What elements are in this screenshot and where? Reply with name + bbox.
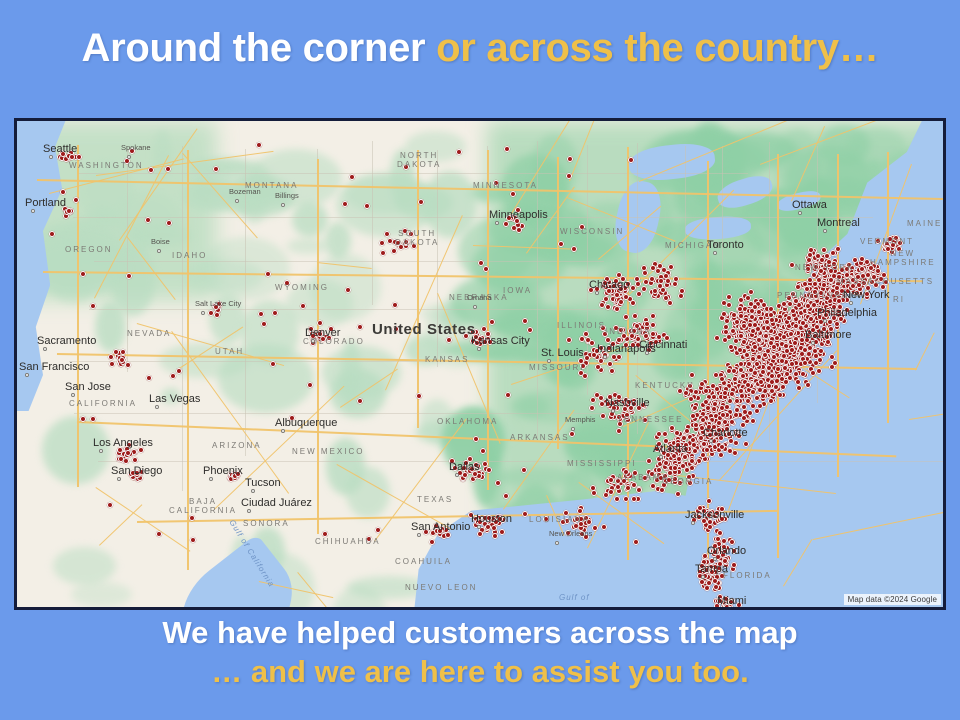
- customer-marker[interactable]: [711, 406, 717, 412]
- customer-marker[interactable]: [590, 397, 596, 403]
- customer-marker[interactable]: [810, 370, 816, 376]
- customer-marker[interactable]: [563, 510, 569, 516]
- customer-marker[interactable]: [265, 271, 271, 277]
- customer-marker[interactable]: [752, 344, 758, 350]
- customer-marker[interactable]: [814, 324, 820, 330]
- customer-marker[interactable]: [90, 416, 96, 422]
- customer-marker[interactable]: [618, 286, 624, 292]
- customer-marker[interactable]: [700, 417, 706, 423]
- footer-line-1: We have helped customers across the map: [0, 614, 960, 653]
- map-city-dot: [31, 209, 35, 213]
- customer-marker[interactable]: [616, 428, 622, 434]
- customer-marker[interactable]: [616, 414, 622, 420]
- customer-marker[interactable]: [499, 529, 505, 535]
- customer-marker[interactable]: [641, 286, 647, 292]
- customer-marker[interactable]: [598, 358, 604, 364]
- customer-marker[interactable]: [256, 142, 262, 148]
- map-city-dot: [798, 211, 802, 215]
- customer-marker[interactable]: [781, 334, 787, 340]
- customer-marker[interactable]: [823, 312, 829, 318]
- customer-marker[interactable]: [788, 331, 794, 337]
- customer-marker[interactable]: [705, 405, 711, 411]
- customer-marker[interactable]: [485, 331, 491, 337]
- map-city-dot: [99, 449, 103, 453]
- customer-marker[interactable]: [800, 371, 806, 377]
- customer-marker[interactable]: [731, 548, 737, 554]
- customer-marker[interactable]: [213, 304, 219, 310]
- page-title: Around the corner or across the country…: [0, 26, 960, 71]
- customer-marker[interactable]: [808, 316, 814, 322]
- customer-marker[interactable]: [813, 264, 819, 270]
- customer-marker[interactable]: [689, 465, 695, 471]
- customer-marker[interactable]: [569, 431, 575, 437]
- customer-marker[interactable]: [626, 399, 632, 405]
- customer-marker[interactable]: [748, 367, 754, 373]
- customer-marker[interactable]: [558, 241, 564, 247]
- page-title-gold: or across the country…: [436, 26, 878, 70]
- customer-marker[interactable]: [829, 354, 835, 360]
- customer-marker[interactable]: [470, 329, 476, 335]
- customer-marker[interactable]: [729, 539, 735, 545]
- customer-marker[interactable]: [831, 304, 837, 310]
- customer-marker[interactable]: [804, 337, 810, 343]
- customer-marker[interactable]: [486, 515, 492, 521]
- customer-marker[interactable]: [697, 505, 703, 511]
- customer-marker[interactable]: [66, 208, 72, 214]
- customer-marker[interactable]: [631, 482, 637, 488]
- customer-marker[interactable]: [375, 527, 381, 533]
- customer-marker[interactable]: [616, 272, 622, 278]
- customer-marker[interactable]: [642, 417, 648, 423]
- customer-marker[interactable]: [890, 242, 896, 248]
- customer-marker[interactable]: [795, 379, 801, 385]
- customer-marker[interactable]: [579, 224, 585, 230]
- customer-marker[interactable]: [487, 339, 493, 345]
- map-city-dot: [659, 455, 663, 459]
- customer-marker[interactable]: [726, 606, 732, 610]
- customer-marker[interactable]: [595, 364, 601, 370]
- customer-marker[interactable]: [737, 347, 743, 353]
- footer-line-2: … and we are here to assist you too.: [0, 653, 960, 692]
- customer-marker[interactable]: [757, 403, 763, 409]
- customer-marker[interactable]: [632, 470, 638, 476]
- map-canvas[interactable]: WASHINGTONOREGONIDAHOMONTANAWYOMINGNORTH…: [17, 121, 943, 607]
- customer-marker[interactable]: [437, 528, 443, 534]
- map-city-dot: [603, 355, 607, 359]
- customer-marker[interactable]: [719, 405, 725, 411]
- customer-marker[interactable]: [659, 487, 665, 493]
- customer-marker[interactable]: [636, 487, 642, 493]
- customer-marker[interactable]: [527, 327, 533, 333]
- customer-marker[interactable]: [777, 392, 783, 398]
- customer-map[interactable]: WASHINGTONOREGONIDAHOMONTANAWYOMINGNORTH…: [14, 118, 946, 610]
- customer-marker[interactable]: [734, 398, 740, 404]
- customer-marker[interactable]: [869, 279, 875, 285]
- customer-marker[interactable]: [589, 340, 595, 346]
- customer-marker[interactable]: [724, 604, 730, 610]
- customer-marker[interactable]: [635, 342, 641, 348]
- customer-marker[interactable]: [623, 294, 629, 300]
- map-attribution: Map data ©2024 Google: [844, 594, 941, 605]
- customer-marker[interactable]: [76, 154, 82, 160]
- customer-marker[interactable]: [883, 279, 889, 285]
- map-city-dot: [201, 311, 205, 315]
- customer-marker[interactable]: [719, 516, 725, 522]
- map-city-dot: [281, 429, 285, 433]
- customer-marker[interactable]: [692, 448, 698, 454]
- customer-marker[interactable]: [722, 337, 728, 343]
- customer-marker[interactable]: [591, 352, 597, 358]
- customer-marker[interactable]: [715, 536, 721, 542]
- customer-marker[interactable]: [699, 381, 705, 387]
- customer-marker[interactable]: [473, 436, 479, 442]
- customer-marker[interactable]: [679, 288, 685, 294]
- customer-marker[interactable]: [395, 240, 401, 246]
- customer-marker[interactable]: [683, 390, 689, 396]
- customer-marker[interactable]: [736, 602, 742, 608]
- customer-marker[interactable]: [663, 438, 669, 444]
- customer-marker[interactable]: [743, 441, 749, 447]
- footer-text: We have helped customers across the map …: [0, 614, 960, 692]
- map-city-dot: [495, 221, 499, 225]
- customer-marker[interactable]: [675, 491, 681, 497]
- customer-marker[interactable]: [614, 292, 620, 298]
- customer-marker[interactable]: [632, 313, 638, 319]
- page-title-white: Around the corner: [81, 26, 436, 70]
- customer-marker[interactable]: [342, 201, 348, 207]
- customer-marker[interactable]: [738, 297, 744, 303]
- customer-marker[interactable]: [577, 508, 583, 514]
- map-city-dot: [311, 339, 315, 343]
- customer-marker[interactable]: [609, 368, 615, 374]
- customer-marker[interactable]: [727, 606, 733, 610]
- customer-marker[interactable]: [752, 322, 758, 328]
- customer-marker[interactable]: [156, 531, 162, 537]
- customer-marker[interactable]: [603, 296, 609, 302]
- map-city-dot: [281, 203, 285, 207]
- customer-marker[interactable]: [706, 498, 712, 504]
- customer-marker[interactable]: [701, 518, 707, 524]
- customer-marker[interactable]: [713, 584, 719, 590]
- customer-marker[interactable]: [717, 561, 723, 567]
- customer-marker[interactable]: [678, 293, 684, 299]
- customer-marker[interactable]: [495, 480, 501, 486]
- customer-marker[interactable]: [598, 395, 604, 401]
- customer-marker[interactable]: [663, 460, 669, 466]
- map-city-dot: [709, 439, 713, 443]
- customer-marker[interactable]: [786, 315, 792, 321]
- customer-marker[interactable]: [642, 475, 648, 481]
- customer-marker[interactable]: [628, 157, 634, 163]
- customer-marker[interactable]: [138, 447, 144, 453]
- customer-marker[interactable]: [817, 357, 823, 363]
- customer-marker[interactable]: [807, 252, 813, 258]
- customer-marker[interactable]: [763, 333, 769, 339]
- map-city-dot: [455, 473, 459, 477]
- customer-marker[interactable]: [818, 268, 824, 274]
- customer-marker[interactable]: [768, 398, 774, 404]
- customer-marker[interactable]: [622, 406, 628, 412]
- customer-marker[interactable]: [672, 281, 678, 287]
- customer-marker[interactable]: [668, 264, 674, 270]
- customer-marker[interactable]: [503, 493, 509, 499]
- customer-marker[interactable]: [80, 416, 86, 422]
- customer-marker[interactable]: [474, 340, 480, 346]
- customer-marker[interactable]: [838, 316, 844, 322]
- customer-marker[interactable]: [830, 250, 836, 256]
- customer-marker[interactable]: [850, 283, 856, 289]
- customer-marker[interactable]: [393, 326, 399, 332]
- customer-marker[interactable]: [671, 453, 677, 459]
- customer-marker[interactable]: [392, 302, 398, 308]
- customer-marker[interactable]: [717, 598, 723, 604]
- map-city-label: Monterrey: [389, 607, 423, 610]
- customer-marker[interactable]: [624, 412, 630, 418]
- map-city-dot: [49, 155, 53, 159]
- customer-marker[interactable]: [713, 372, 719, 378]
- customer-marker[interactable]: [125, 450, 131, 456]
- customer-marker[interactable]: [449, 458, 455, 464]
- customer-marker[interactable]: [521, 467, 527, 473]
- customer-marker[interactable]: [817, 307, 823, 313]
- customer-marker[interactable]: [477, 519, 483, 525]
- customer-marker[interactable]: [366, 536, 372, 542]
- map-city-dot: [701, 575, 705, 579]
- customer-marker[interactable]: [844, 307, 850, 313]
- customer-marker[interactable]: [416, 393, 422, 399]
- map-city-dot: [723, 607, 727, 610]
- customer-marker[interactable]: [714, 386, 720, 392]
- customer-marker[interactable]: [893, 235, 899, 241]
- customer-marker[interactable]: [503, 221, 509, 227]
- customer-marker[interactable]: [623, 496, 629, 502]
- customer-marker[interactable]: [80, 271, 86, 277]
- customer-marker[interactable]: [712, 578, 718, 584]
- customer-marker[interactable]: [719, 573, 725, 579]
- customer-marker[interactable]: [170, 373, 176, 379]
- customer-marker[interactable]: [828, 326, 834, 332]
- map-city-dot: [823, 229, 827, 233]
- map-city-dot: [811, 341, 815, 345]
- map-city-dot: [117, 477, 121, 481]
- map-city-dot: [547, 359, 551, 363]
- customer-marker[interactable]: [603, 492, 609, 498]
- customer-marker[interactable]: [796, 385, 802, 391]
- customer-marker[interactable]: [837, 304, 843, 310]
- map-city-dot: [473, 305, 477, 309]
- customer-marker[interactable]: [864, 291, 870, 297]
- customer-marker[interactable]: [650, 483, 656, 489]
- map-city-dot: [477, 347, 481, 351]
- customer-marker[interactable]: [700, 452, 706, 458]
- map-city-dot: [571, 427, 575, 431]
- customer-marker[interactable]: [690, 437, 696, 443]
- map-city-dot: [477, 525, 481, 529]
- customer-marker[interactable]: [850, 277, 856, 283]
- customer-marker[interactable]: [322, 531, 328, 537]
- customer-marker[interactable]: [571, 246, 577, 252]
- customer-marker[interactable]: [750, 328, 756, 334]
- customer-marker[interactable]: [669, 425, 675, 431]
- customer-marker[interactable]: [812, 348, 818, 354]
- customer-marker[interactable]: [109, 361, 115, 367]
- customer-marker[interactable]: [289, 415, 295, 421]
- customer-marker[interactable]: [583, 515, 589, 521]
- customer-marker[interactable]: [189, 515, 195, 521]
- customer-marker[interactable]: [618, 299, 624, 305]
- customer-marker[interactable]: [480, 448, 486, 454]
- customer-marker[interactable]: [741, 404, 747, 410]
- customer-marker[interactable]: [721, 544, 727, 550]
- customer-marker[interactable]: [515, 207, 521, 213]
- customer-marker[interactable]: [712, 549, 718, 555]
- customer-marker[interactable]: [463, 333, 469, 339]
- customer-marker[interactable]: [615, 484, 621, 490]
- customer-marker[interactable]: [317, 320, 323, 326]
- customer-marker[interactable]: [664, 335, 670, 341]
- customer-marker[interactable]: [601, 524, 607, 530]
- customer-marker[interactable]: [391, 248, 397, 254]
- customer-marker[interactable]: [270, 361, 276, 367]
- map-city-dot: [209, 477, 213, 481]
- customer-marker[interactable]: [760, 369, 766, 375]
- customer-marker[interactable]: [485, 524, 491, 530]
- customer-marker[interactable]: [649, 276, 655, 282]
- customer-marker[interactable]: [675, 442, 681, 448]
- customer-marker[interactable]: [875, 268, 881, 274]
- customer-marker[interactable]: [379, 240, 385, 246]
- map-city-dot: [251, 489, 255, 493]
- customer-marker[interactable]: [674, 430, 680, 436]
- map-city-dot: [417, 533, 421, 537]
- customer-marker[interactable]: [567, 156, 573, 162]
- customer-marker[interactable]: [605, 304, 611, 310]
- customer-marker[interactable]: [804, 286, 810, 292]
- customer-marker[interactable]: [836, 274, 842, 280]
- customer-marker[interactable]: [856, 282, 862, 288]
- customer-marker[interactable]: [591, 490, 597, 496]
- customer-marker[interactable]: [745, 295, 751, 301]
- customer-marker[interactable]: [825, 339, 831, 345]
- map-city-dot: [235, 199, 239, 203]
- customer-marker[interactable]: [165, 166, 171, 172]
- map-city-dot: [691, 521, 695, 525]
- customer-marker[interactable]: [483, 266, 489, 272]
- customer-marker[interactable]: [818, 290, 824, 296]
- customer-marker[interactable]: [689, 372, 695, 378]
- customer-marker[interactable]: [782, 365, 788, 371]
- customer-marker[interactable]: [213, 166, 219, 172]
- customer-marker[interactable]: [699, 579, 705, 585]
- customer-marker[interactable]: [754, 361, 760, 367]
- customer-marker[interactable]: [272, 310, 278, 316]
- customer-marker[interactable]: [779, 358, 785, 364]
- customer-marker[interactable]: [709, 569, 715, 575]
- map-city-dot: [555, 541, 559, 545]
- map-city-dot: [247, 509, 251, 513]
- customer-marker[interactable]: [728, 438, 734, 444]
- customer-marker[interactable]: [787, 301, 793, 307]
- customer-marker[interactable]: [684, 467, 690, 473]
- customer-marker[interactable]: [357, 324, 363, 330]
- customer-marker[interactable]: [384, 231, 390, 237]
- customer-marker[interactable]: [630, 300, 636, 306]
- map-city-dot: [595, 291, 599, 295]
- customer-marker[interactable]: [719, 376, 725, 382]
- customer-marker[interactable]: [579, 336, 585, 342]
- map-city-dot: [713, 251, 717, 255]
- customer-marker[interactable]: [491, 525, 497, 531]
- customer-marker[interactable]: [653, 339, 659, 345]
- customer-marker[interactable]: [741, 415, 747, 421]
- customer-marker[interactable]: [646, 458, 652, 464]
- customer-marker[interactable]: [726, 368, 732, 374]
- customer-marker[interactable]: [317, 331, 323, 337]
- customer-marker[interactable]: [720, 412, 726, 418]
- map-city-dot: [645, 351, 649, 355]
- customer-marker[interactable]: [472, 471, 478, 477]
- customer-marker[interactable]: [714, 335, 720, 341]
- map-city-dot: [611, 409, 615, 413]
- customer-marker[interactable]: [606, 288, 612, 294]
- customer-marker[interactable]: [467, 456, 473, 462]
- customer-marker[interactable]: [792, 340, 798, 346]
- map-city-dot: [43, 347, 47, 351]
- customer-marker[interactable]: [623, 469, 629, 475]
- map-city-dot: [849, 301, 853, 305]
- customer-marker[interactable]: [510, 191, 516, 197]
- map-city-dot: [713, 557, 717, 561]
- customer-marker[interactable]: [607, 361, 613, 367]
- customer-marker[interactable]: [768, 306, 774, 312]
- map-city-dot: [25, 373, 29, 377]
- customer-marker[interactable]: [113, 349, 119, 355]
- customer-marker[interactable]: [714, 603, 720, 609]
- customer-marker[interactable]: [768, 312, 774, 318]
- customer-marker[interactable]: [737, 306, 743, 312]
- customer-marker[interactable]: [166, 220, 172, 226]
- customer-marker[interactable]: [690, 413, 696, 419]
- customer-marker[interactable]: [493, 519, 499, 525]
- customer-marker[interactable]: [445, 532, 451, 538]
- map-city-dot: [155, 405, 159, 409]
- customer-marker[interactable]: [728, 344, 734, 350]
- customer-marker[interactable]: [832, 360, 838, 366]
- customer-marker[interactable]: [574, 516, 580, 522]
- customer-marker[interactable]: [578, 370, 584, 376]
- customer-marker[interactable]: [779, 376, 785, 382]
- customer-marker[interactable]: [423, 529, 429, 535]
- map-city-dot: [823, 319, 827, 323]
- customer-marker[interactable]: [834, 285, 840, 291]
- map-city-dot: [71, 393, 75, 397]
- map-city-dot: [157, 249, 161, 253]
- customer-marker[interactable]: [663, 273, 669, 279]
- customer-marker[interactable]: [784, 348, 790, 354]
- customer-marker[interactable]: [812, 289, 818, 295]
- customer-marker[interactable]: [125, 362, 131, 368]
- map-city-dot: [127, 155, 131, 159]
